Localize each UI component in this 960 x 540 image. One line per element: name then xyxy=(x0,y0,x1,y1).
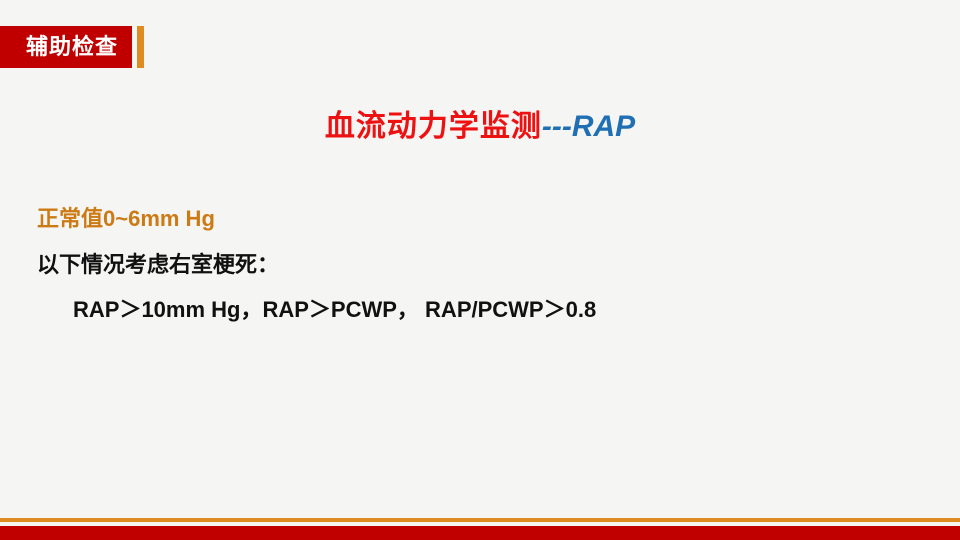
header-banner-accent-bar xyxy=(137,26,144,68)
condition-heading-text: 以下情况考虑右室梗死： xyxy=(37,251,920,279)
page-title-main: 血流动力学监测 xyxy=(325,110,542,143)
body-content: 正常值0~6mm Hg 以下情况考虑右室梗死： RAP＞10mm Hg，RAP＞… xyxy=(37,205,920,324)
slide-canvas: 辅助检查 血流动力学监测---RAP 正常值0~6mm Hg 以下情况考虑右室梗… xyxy=(0,0,960,540)
header-banner: 辅助检查 xyxy=(0,26,144,68)
header-banner-label: 辅助检查 xyxy=(26,36,118,58)
page-title: 血流动力学监测---RAP xyxy=(0,110,960,143)
header-banner-block: 辅助检查 xyxy=(0,26,132,68)
footer-red-band xyxy=(0,526,960,540)
page-title-suffix: ---RAP xyxy=(542,110,635,143)
criteria-text: RAP＞10mm Hg，RAP＞PCWP， RAP/PCWP＞0.8 xyxy=(73,296,920,324)
normal-range-text: 正常值0~6mm Hg xyxy=(37,205,920,233)
